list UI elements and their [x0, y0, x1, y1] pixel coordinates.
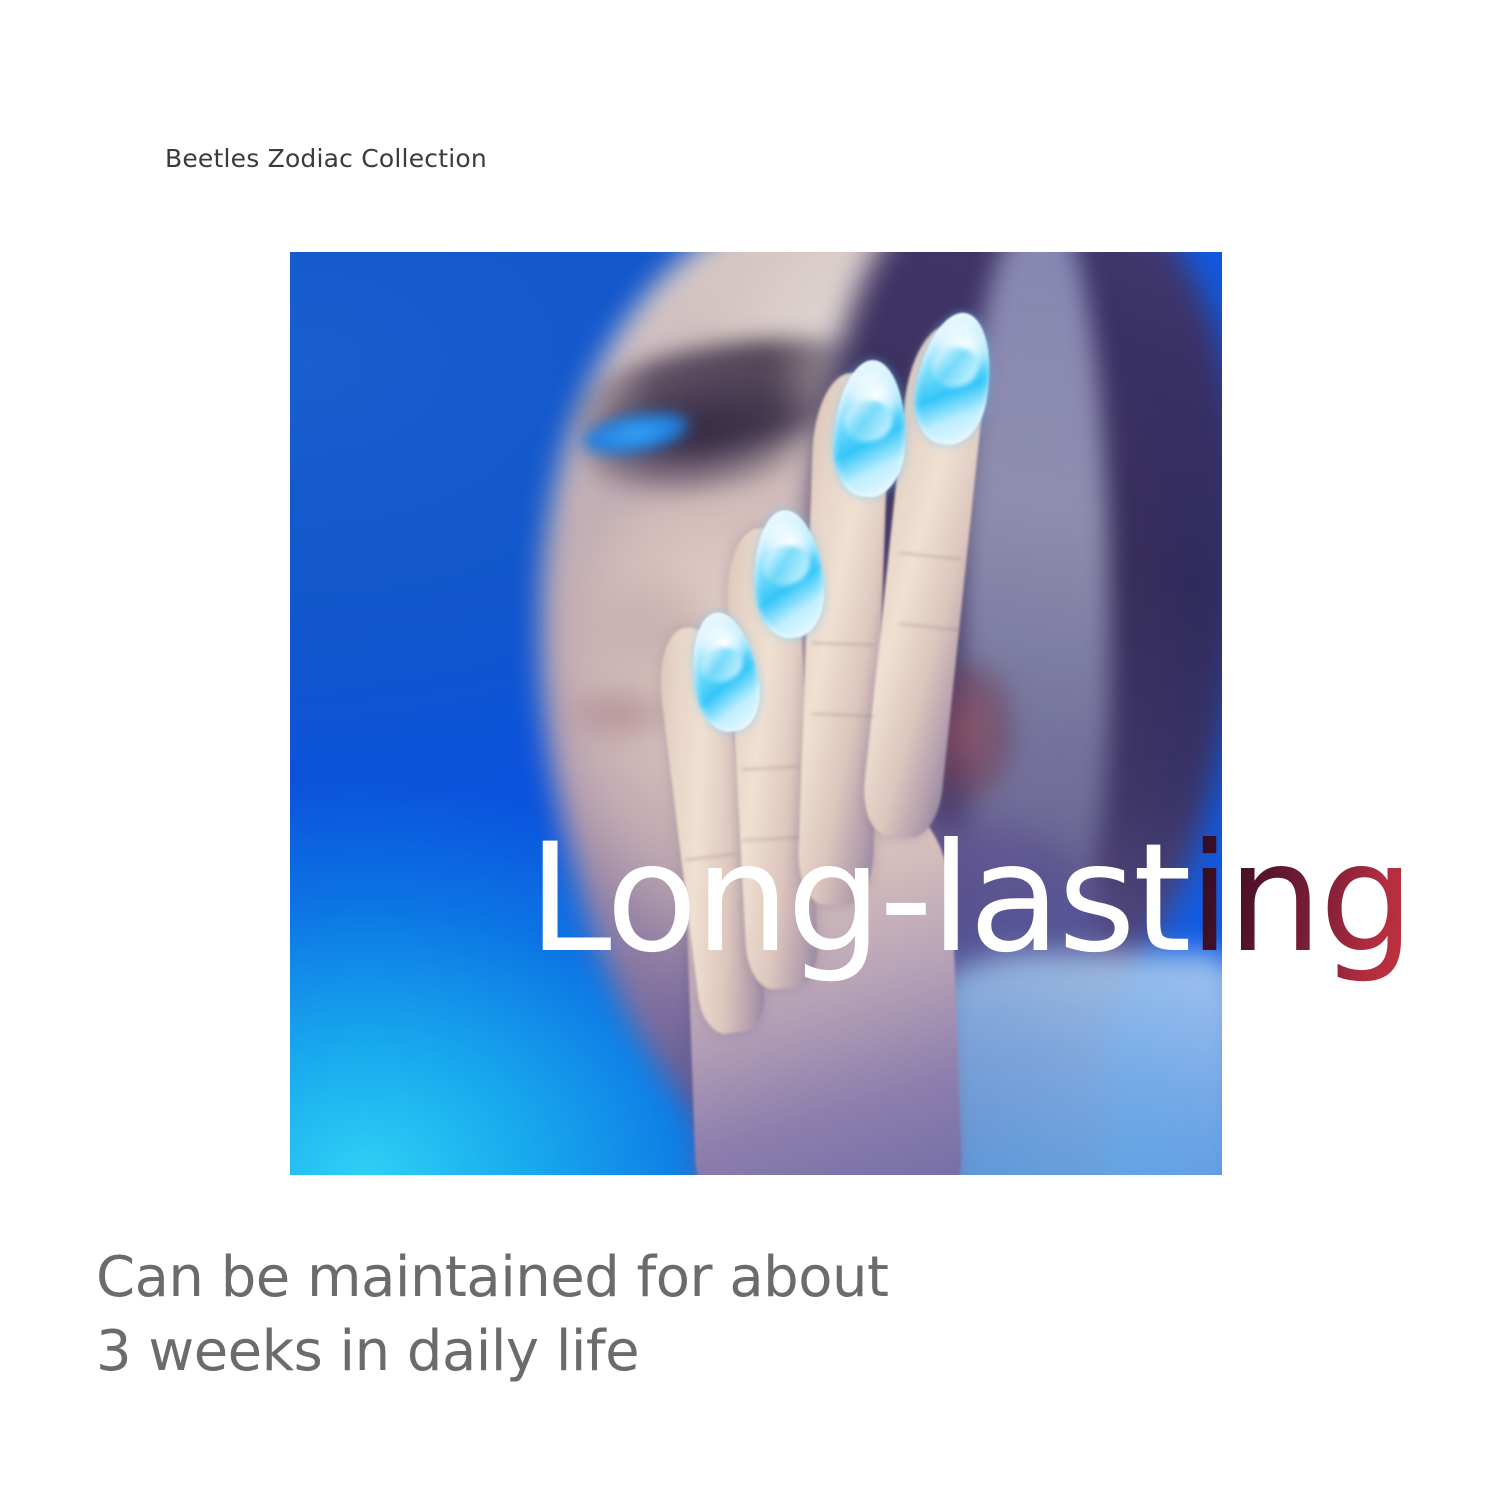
nail-swirl-art [929, 343, 980, 389]
hero-photo-canvas [290, 252, 1222, 1175]
product-feature-page: Beetles Zodiac Collection [0, 0, 1500, 1500]
caption-line-1: Can be maintained for about [96, 1241, 1096, 1315]
nail-swirl-art [697, 643, 747, 687]
collection-label: Beetles Zodiac Collection [165, 144, 487, 173]
headline-inside-photo: Long-last [528, 812, 1189, 986]
headline-outside-photo: ing [1189, 812, 1412, 986]
hero-headline: Long-lasting [528, 824, 1412, 974]
hero-image [290, 252, 1222, 1175]
feature-caption: Can be maintained for about 3 weeks in d… [96, 1241, 1096, 1390]
nail-swirl-art [841, 397, 896, 447]
nail-swirl-art [758, 541, 813, 591]
model-hand [598, 289, 1176, 1175]
caption-line-2: 3 weeks in daily life [96, 1315, 1096, 1389]
nail-index [907, 307, 1001, 450]
